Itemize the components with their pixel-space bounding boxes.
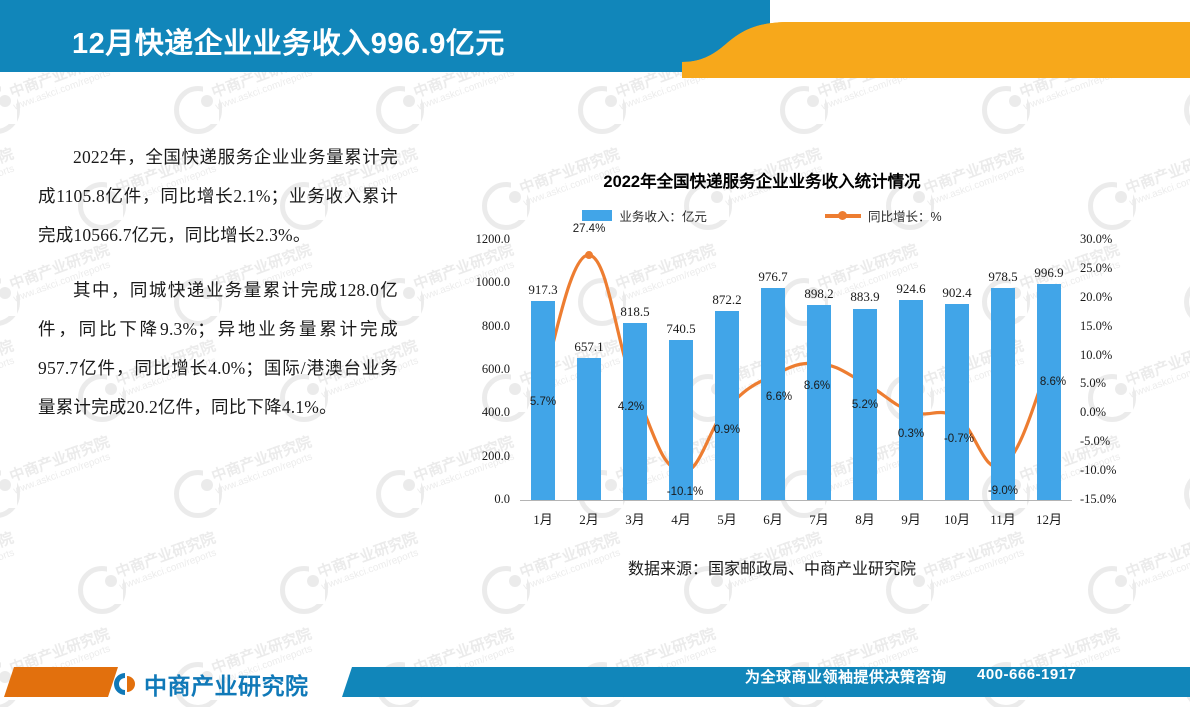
brand-name: 中商产业研究院 [144,667,309,701]
y-axis-left-tick-4: 800.0 [432,319,510,334]
chart-source-note: 数据来源：国家邮政局、中商产业研究院 [432,555,1112,579]
x-axis-tick-6: 6月 [748,509,798,528]
y-axis-right-tick-3: 0.0% [1080,405,1152,420]
y-axis-left-tick-1: 200.0 [432,449,510,464]
article-paragraph-2: 其中，同城快递业务量累计完成128.0亿件，同比下降9.3%；异地业务量累计完成… [38,271,398,427]
y-axis-right-tick-1: -10.0% [1080,463,1152,478]
chart-plot: 917.3657.1818.5740.5872.2976.7898.2883.9… [432,230,1172,530]
x-axis-tick-9: 9月 [886,509,936,528]
chart-legend: 业务收入：亿元 同比增长：% [432,206,1092,225]
slide-body: 2022年，全国快递服务企业业务量累计完成1105.8亿件，同比增长2.1%；业… [0,78,1190,648]
y-axis-left-tick-0: 0.0 [432,492,510,507]
growth-point-2 [585,251,593,259]
y-axis-right-tick-4: 5.0% [1080,376,1152,391]
legend-bar-swatch-icon [582,210,612,221]
x-axis-tick-11: 11月 [978,509,1028,528]
y-axis-right-tick-8: 25.0% [1080,261,1152,276]
footer-tagline: 为全球商业领袖提供决策咨询 [745,666,947,687]
growth-value-label-11: -9.0% [973,485,1033,497]
y-axis-left-tick-5: 1000.0 [432,275,510,290]
growth-value-label-8: 5.2% [835,399,895,411]
x-axis-tick-3: 3月 [610,509,660,528]
x-axis-tick-8: 8月 [840,509,890,528]
growth-value-label-10: -0.7% [929,433,989,445]
bar-2 [577,358,601,500]
chart-container: 2022年全国快递服务企业业务收入统计情况 业务收入：亿元 同比增长：% 917 [432,78,1172,618]
y-axis-right-tick-6: 15.0% [1080,319,1152,334]
y-axis-right-tick-5: 10.0% [1080,348,1152,363]
growth-value-label-5: 0.9% [697,424,757,436]
y-axis-right-tick-0: -15.0% [1080,492,1152,507]
footer-phone: 400-666-1917 [977,666,1076,683]
growth-value-label-1: 5.7% [513,396,573,408]
bar-value-label-1: 917.3 [513,282,573,298]
x-axis-tick-5: 5月 [702,509,752,528]
legend-label-growth: 同比增长：% [868,206,942,225]
y-axis-right-tick-9: 30.0% [1080,232,1152,247]
y-axis-left-tick-3: 600.0 [432,362,510,377]
x-axis-tick-1: 1月 [518,509,568,528]
bar-value-label-5: 872.2 [697,292,757,308]
article-paragraph-1: 2022年，全国快递服务企业业务量累计完成1105.8亿件，同比增长2.1%；业… [38,138,398,255]
bar-7 [807,305,831,500]
bar-10 [945,304,969,500]
header-banner: 12月快递企业业务收入996.9亿元 [0,0,1190,78]
bar-value-label-12: 996.9 [1019,265,1079,281]
legend-item-growth: 同比增长：% [825,206,942,225]
growth-value-label-7: 8.6% [787,380,847,392]
bar-value-label-2: 657.1 [559,339,619,355]
bar-5 [715,311,739,500]
brand-logo: 中商产业研究院 [112,667,309,701]
bar-12 [1037,284,1061,500]
bar-value-label-10: 902.4 [927,285,987,301]
bar-value-label-3: 818.5 [605,304,665,320]
x-axis-tick-2: 2月 [564,509,614,528]
x-axis-tick-7: 7月 [794,509,844,528]
growth-value-label-4: -10.1% [655,486,715,498]
growth-value-label-3: 4.2% [601,401,661,413]
article-text: 2022年，全国快递服务企业业务量累计完成1105.8亿件，同比增长2.1%；业… [38,138,398,443]
growth-value-label-2: 27.4% [559,223,619,235]
bar-4 [669,340,693,500]
growth-value-label-6: 6.6% [749,391,809,403]
page-title: 12月快递企业业务收入996.9亿元 [72,20,505,62]
bar-value-label-4: 740.5 [651,321,711,337]
x-axis-tick-10: 10月 [932,509,982,528]
askci-logo-icon [112,671,138,697]
y-axis-right-tick-2: -5.0% [1080,434,1152,449]
bar-9 [899,300,923,500]
x-axis-tick-4: 4月 [656,509,706,528]
bar-value-label-6: 976.7 [743,269,803,285]
y-axis-left-tick-6: 1200.0 [432,232,510,247]
legend-line-swatch-icon [825,210,861,221]
y-axis-right-tick-7: 20.0% [1080,290,1152,305]
slide-page: 中商产业研究院www.askci.com/reports中商产业研究院www.a… [0,0,1190,707]
legend-label-revenue: 业务收入：亿元 [619,206,707,225]
y-axis-left-tick-2: 400.0 [432,405,510,420]
growth-value-label-12: 8.6% [1023,376,1083,388]
x-axis-tick-12: 12月 [1024,509,1074,528]
chart-title: 2022年全国快递服务企业业务收入统计情况 [432,168,1092,192]
bar-11 [991,288,1015,500]
